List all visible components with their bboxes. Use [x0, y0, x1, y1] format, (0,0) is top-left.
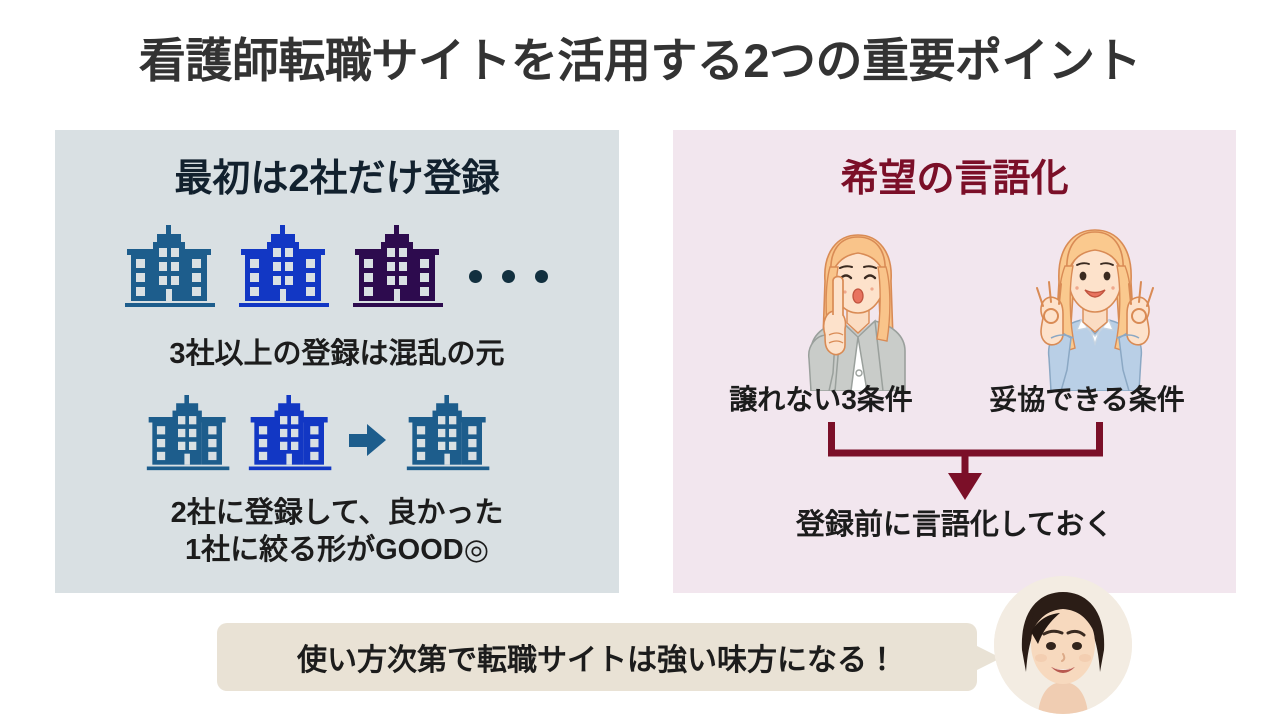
- right-panel-conclusion: 登録前に言語化しておく: [673, 507, 1236, 544]
- building-icon-3: [351, 225, 447, 309]
- building-icon-6: [405, 395, 493, 472]
- right-panel: 希望の言語化: [673, 130, 1236, 593]
- left-panel-top-caption: 3社以上の登録は混乱の元: [55, 336, 619, 373]
- left-panel-top-icon-row: [123, 225, 548, 309]
- left-panel-heading: 最初は2社だけ登録: [55, 147, 619, 202]
- ellipsis-icon: [469, 270, 548, 283]
- speech-bubble-text: 使い方次第で転職サイトは強い味方になる！: [217, 623, 977, 691]
- presenter-avatar-photo: [994, 576, 1132, 714]
- left-panel: 最初は2社だけ登録: [55, 130, 619, 593]
- building-icon-4: [145, 395, 233, 472]
- speech-bubble: 使い方次第で転職サイトは強い味方になる！: [217, 623, 977, 691]
- building-icon-1: [123, 225, 219, 309]
- left-panel-bottom-caption-line2: 1社に絞る形がGOOD◎: [55, 532, 619, 569]
- page-title: 看護師転職サイトを活用する2つの重要ポイント: [0, 22, 1280, 91]
- building-icon-5: [247, 395, 335, 472]
- left-panel-bottom-icon-row: [145, 395, 493, 472]
- left-panel-bottom-caption-line1: 2社に登録して、良かった: [55, 495, 619, 532]
- building-icon-2: [237, 225, 333, 309]
